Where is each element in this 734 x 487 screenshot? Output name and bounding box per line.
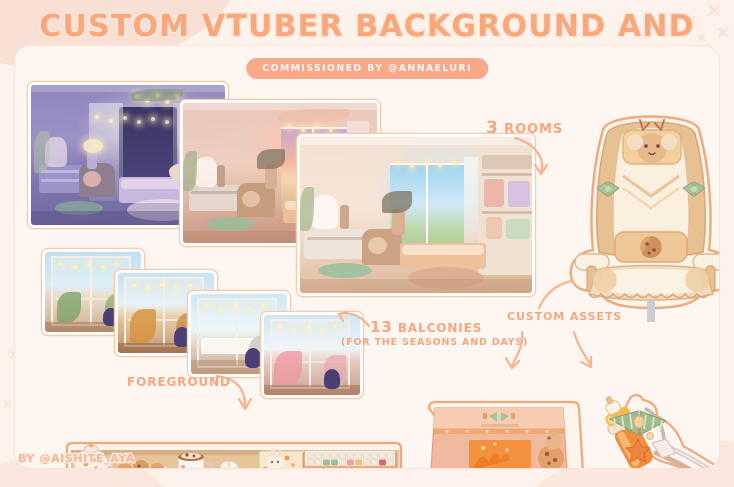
arrow-to-chair <box>511 134 561 180</box>
label-balconies-text: BALCONIES <box>398 321 483 335</box>
arrow-to-foreground <box>215 370 261 416</box>
asset-microphone[interactable] <box>598 391 720 469</box>
content-card: COMMISSIONED BY @ANNAELURI <box>14 45 720 469</box>
arrow-to-balconies <box>337 310 373 332</box>
label-rooms-number: 3 <box>486 118 499 138</box>
sparkle-icon: ✕ <box>2 398 13 411</box>
label-balconies-number: 13 <box>370 318 393 336</box>
label-balconies-subtitle: (FOR THE SEASONS AND DAYS) <box>341 337 528 348</box>
arrow-assets-to-monitor <box>502 330 532 372</box>
commission-badge: COMMISSIONED BY @ANNAELURI <box>246 58 488 79</box>
arrow-assets-to-microphone <box>570 330 600 372</box>
poster-root: ✕ ✕ ✕ ✕ ✕ ✕ ✕ CUSTOM VTUBER BACKGROUND A… <box>0 0 734 487</box>
asset-gaming-chair[interactable] <box>563 104 720 336</box>
artist-credit: BY @AISHITE_AYA <box>18 452 135 465</box>
room-image-day[interactable] <box>297 134 535 296</box>
label-balconies: 13 BALCONIES <box>370 318 482 336</box>
asset-monitor[interactable] <box>423 398 585 469</box>
